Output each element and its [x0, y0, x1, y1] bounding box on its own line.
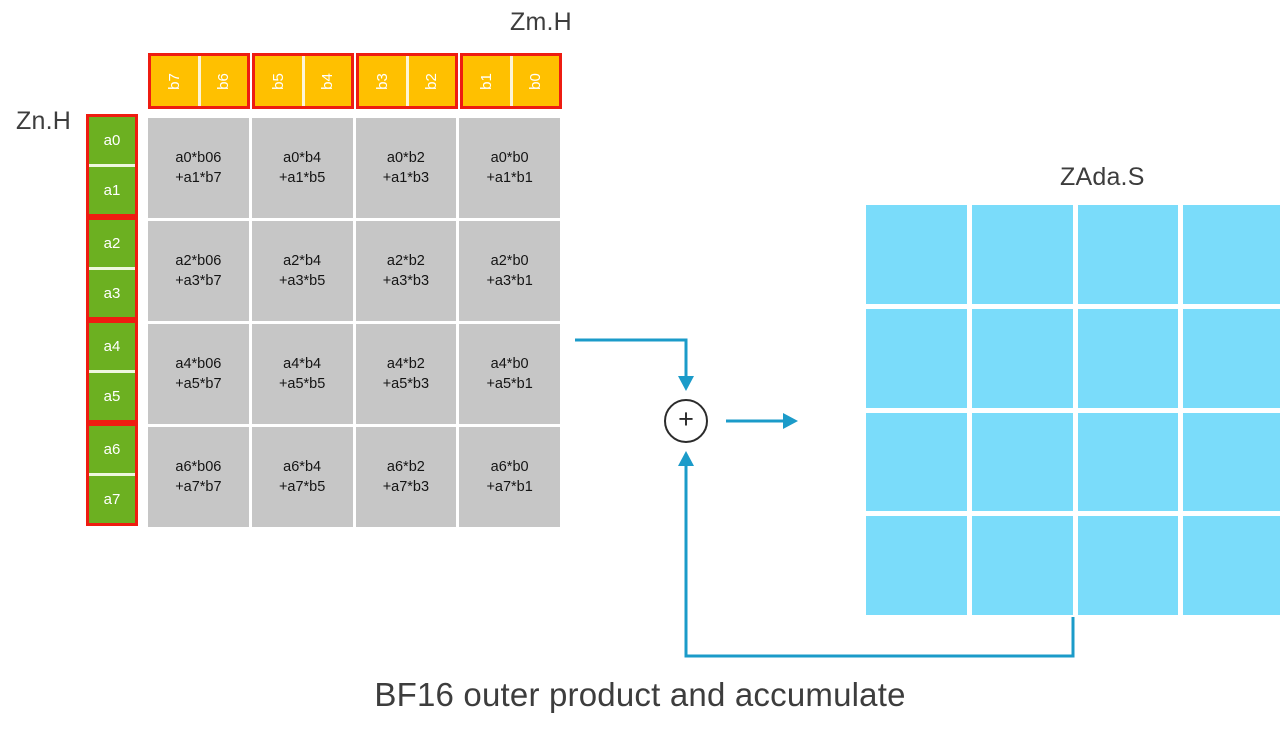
diagram-canvas: Zm.H Zn.H ZAda.S b7 b6 b5 b4 b3 b2 b1 b0… — [0, 0, 1280, 746]
adder-to-zada-arrowhead — [783, 413, 798, 429]
connector-wires — [0, 0, 1280, 746]
products-to-adder-wire — [575, 340, 686, 376]
accumulate-adder-icon: + — [664, 399, 708, 443]
zada-feedback-wire — [686, 466, 1073, 656]
figure-caption: BF16 outer product and accumulate — [0, 676, 1280, 714]
plus-symbol: + — [678, 406, 694, 433]
zada-feedback-arrowhead — [678, 451, 694, 466]
products-to-adder-arrowhead — [678, 376, 694, 391]
